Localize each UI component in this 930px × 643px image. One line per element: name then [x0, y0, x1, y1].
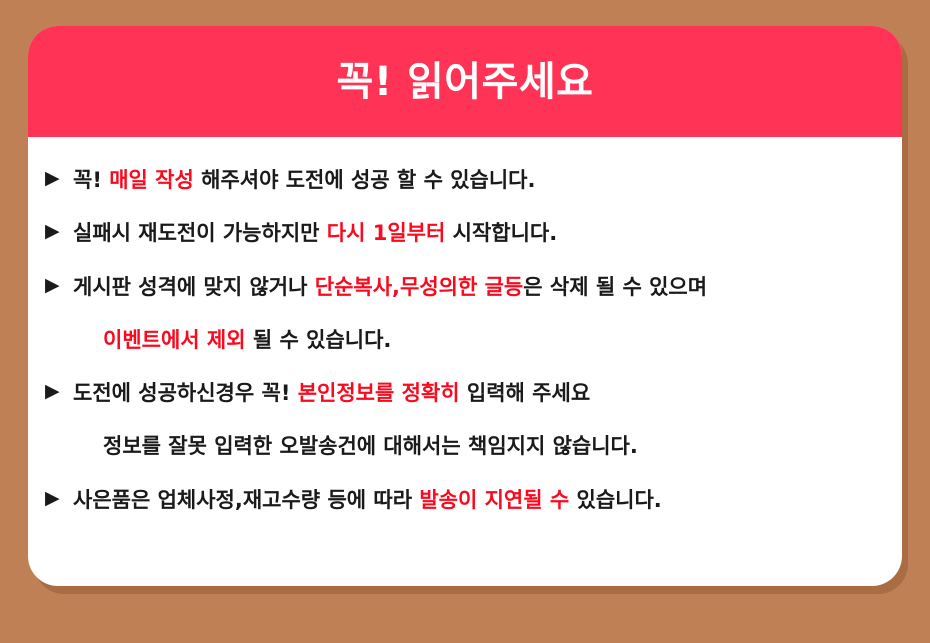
body-text: 사은품은 업체사정,재고수량 등에 따라: [73, 488, 419, 512]
body-text: 입력해 주세요: [460, 381, 591, 405]
highlighted-text: 발송이 지연될 수: [419, 488, 569, 512]
body-text: 있습니다.: [569, 488, 662, 512]
notice-item-text: 정보를 잘못 입력한 오발송건에 대해서는 책임지지 않습니다.: [103, 433, 876, 459]
notice-item-text: 꼭! 매일 작성 해주셔야 도전에 성공 할 수 있습니다.: [73, 167, 876, 193]
notice-item: ▶실패시 재도전이 가능하지만 다시 1일부터 시작합니다.: [45, 220, 876, 246]
highlighted-text: 본인정보를 정확히: [298, 381, 460, 405]
body-text: 도전에 성공하신경우 꼭!: [73, 381, 298, 405]
notice-item: 정보를 잘못 입력한 오발송건에 대해서는 책임지지 않습니다.: [45, 433, 876, 459]
body-text: 꼭!: [73, 168, 109, 192]
highlighted-text: 단순복사,무성의한 글등: [315, 275, 524, 299]
page-title: 꼭! 읽어주세요: [337, 62, 594, 102]
body-text: 실패시 재도전이 가능하지만: [73, 221, 327, 245]
notice-item: ▶게시판 성격에 맞지 않거나 단순복사,무성의한 글등은 삭제 될 수 있으며: [45, 274, 876, 300]
body-text: 해주셔야 도전에 성공 할 수 있습니다.: [194, 168, 536, 192]
triangle-bullet-icon: ▶: [45, 487, 73, 511]
highlighted-text: 다시 1일부터: [327, 221, 446, 245]
notice-list: ▶꼭! 매일 작성 해주셔야 도전에 성공 할 수 있습니다.▶실패시 재도전이…: [28, 137, 902, 513]
notice-item: 이벤트에서 제외 될 수 있습니다.: [45, 327, 876, 353]
notice-item-text: 도전에 성공하신경우 꼭! 본인정보를 정확히 입력해 주세요: [73, 380, 876, 406]
notice-item-text: 이벤트에서 제외 될 수 있습니다.: [103, 327, 876, 353]
highlighted-text: 이벤트에서 제외: [103, 328, 246, 352]
notice-item-text: 실패시 재도전이 가능하지만 다시 1일부터 시작합니다.: [73, 220, 876, 246]
page-root: 꼭! 읽어주세요 ▶꼭! 매일 작성 해주셔야 도전에 성공 할 수 있습니다.…: [0, 0, 930, 643]
triangle-bullet-icon: ▶: [45, 274, 73, 298]
notice-item-text: 사은품은 업체사정,재고수량 등에 따라 발송이 지연될 수 있습니다.: [73, 487, 876, 513]
triangle-bullet-icon: ▶: [45, 380, 73, 404]
notice-item: ▶꼭! 매일 작성 해주셔야 도전에 성공 할 수 있습니다.: [45, 167, 876, 193]
body-text: 게시판 성격에 맞지 않거나: [73, 275, 315, 299]
notice-card: 꼭! 읽어주세요 ▶꼭! 매일 작성 해주셔야 도전에 성공 할 수 있습니다.…: [28, 26, 902, 586]
notice-header-banner: 꼭! 읽어주세요: [28, 26, 902, 137]
body-text: 정보를 잘못 입력한 오발송건에 대해서는 책임지지 않습니다.: [103, 434, 638, 458]
triangle-bullet-icon: ▶: [45, 167, 73, 191]
notice-item: ▶사은품은 업체사정,재고수량 등에 따라 발송이 지연될 수 있습니다.: [45, 487, 876, 513]
highlighted-text: 매일 작성: [109, 168, 194, 192]
triangle-bullet-icon: ▶: [45, 220, 73, 244]
body-text: 은 삭제 될 수 있으며: [523, 275, 707, 299]
body-text: 시작합니다.: [445, 221, 557, 245]
notice-item-text: 게시판 성격에 맞지 않거나 단순복사,무성의한 글등은 삭제 될 수 있으며: [73, 274, 876, 300]
notice-item: ▶도전에 성공하신경우 꼭! 본인정보를 정확히 입력해 주세요: [45, 380, 876, 406]
body-text: 될 수 있습니다.: [246, 328, 392, 352]
